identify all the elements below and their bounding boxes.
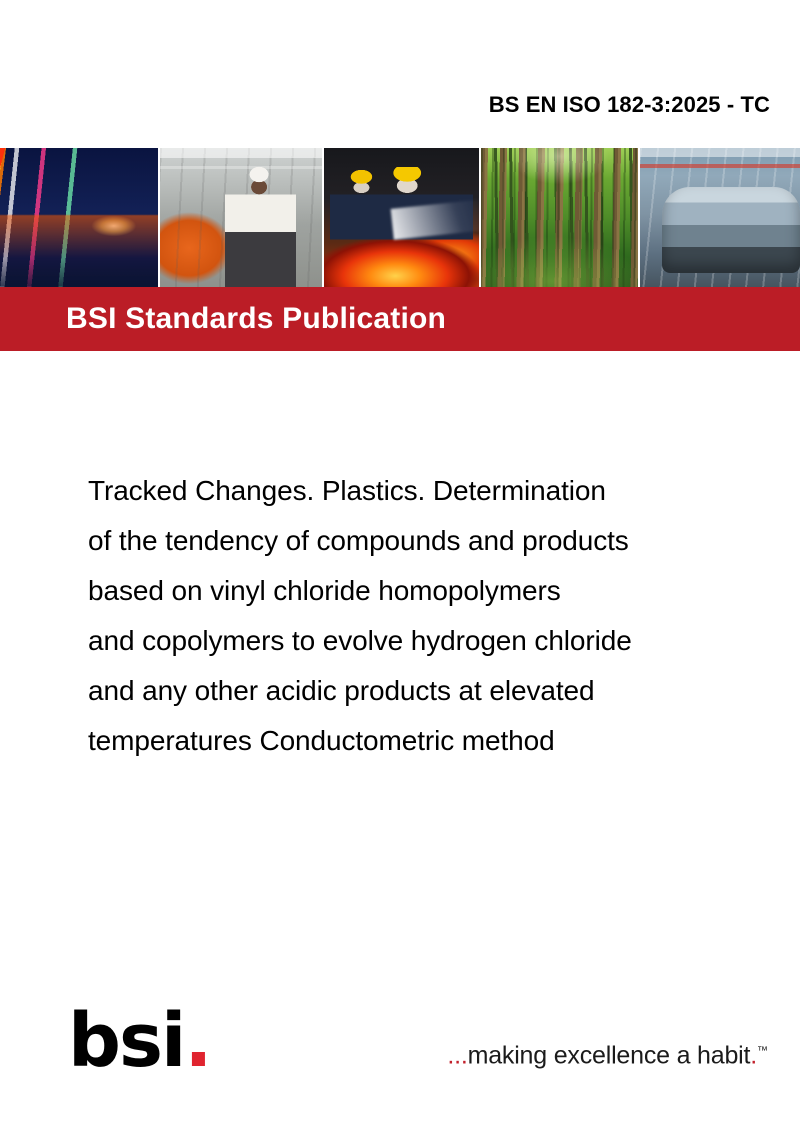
bsi-tagline: ...making excellence a habit.™ [447, 1036, 768, 1070]
banner-label: BSI Standards Publication [66, 302, 446, 336]
title-line: and any other acidic products at elevate… [88, 666, 760, 716]
title-line: temperatures Conductometric method [88, 716, 760, 766]
bsi-logo-text: bsi [68, 998, 184, 1084]
photo-strip [0, 148, 800, 287]
bsi-logo-dot: . [184, 998, 210, 1084]
photo-panel-firefighters [324, 148, 481, 287]
title-line: and copolymers to evolve hydrogen chlori… [88, 616, 760, 666]
tagline-leading-ellipsis: ... [447, 1041, 467, 1069]
photo-panel-car-assembly-line [640, 148, 800, 287]
document-title: Tracked Changes. Plastics. Determination… [88, 466, 760, 766]
standards-publication-banner: BSI Standards Publication [0, 287, 800, 351]
document-reference: BS EN ISO 182-3:2025 - TC [489, 92, 770, 118]
bsi-logo: bsi. [68, 1004, 211, 1078]
trademark-icon: ™ [757, 1045, 768, 1057]
tagline-text: making excellence a habit [468, 1041, 751, 1069]
photo-panel-warehouse-worker [160, 148, 323, 287]
title-line: of the tendency of compounds and product… [88, 516, 760, 566]
title-line: based on vinyl chloride homopolymers [88, 566, 760, 616]
photo-panel-night-traffic [0, 148, 160, 287]
title-line: Tracked Changes. Plastics. Determination [88, 466, 760, 516]
document-cover-page: BS EN ISO 182-3:2025 - TC BSI Standards … [0, 0, 800, 1132]
photo-panel-forest [481, 148, 639, 287]
tagline-period: . [750, 1041, 757, 1069]
